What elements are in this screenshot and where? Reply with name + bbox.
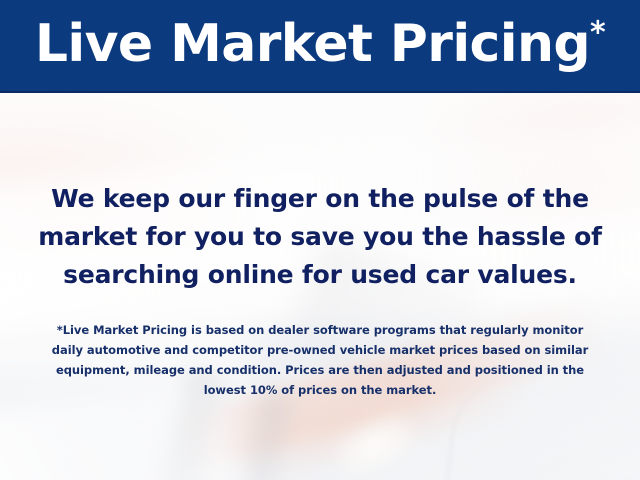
live-market-pricing-banner: Live Market Pricing* We keep our finger … [0, 0, 640, 480]
disclaimer-text: *Live Market Pricing is based on dealer … [20, 320, 620, 400]
disclaimer-line: *Live Market Pricing is based on dealer … [20, 320, 620, 340]
headline-copy: We keep our finger on the pulse of the m… [0, 180, 640, 294]
headline-line: market for you to save you the hassle of [0, 218, 640, 256]
disclaimer-line: equipment, mileage and condition. Prices… [20, 360, 620, 380]
page-title: Live Market Pricing* [35, 18, 605, 74]
header-bar: Live Market Pricing* [0, 0, 640, 93]
disclaimer-line: daily automotive and competitor pre-owne… [20, 340, 620, 360]
page-title-text: Live Market Pricing [35, 14, 590, 74]
headline-line: We keep our finger on the pulse of the [0, 180, 640, 218]
disclaimer-line: lowest 10% of prices on the market. [20, 380, 620, 400]
page-title-asterisk: * [590, 15, 605, 50]
headline-line: searching online for used car values. [0, 256, 640, 294]
